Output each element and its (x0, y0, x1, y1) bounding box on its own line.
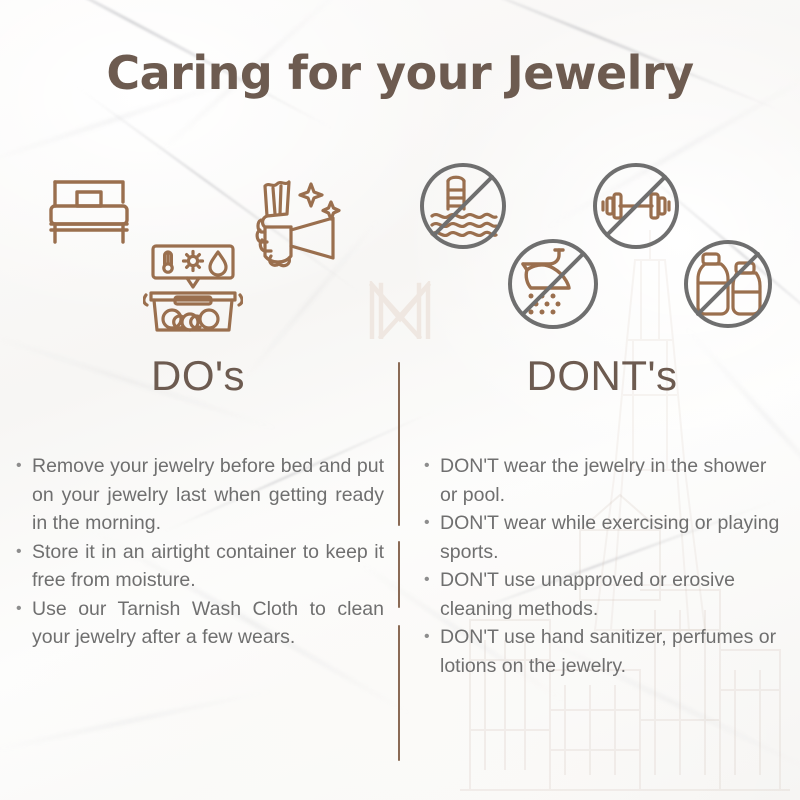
bullet-icon: • (16, 595, 32, 624)
bullet-icon: • (16, 538, 32, 567)
list-item-text: DON'T wear the jewelry in the shower or … (440, 452, 782, 509)
donts-list: • DON'T wear the jewelry in the shower o… (424, 452, 782, 680)
no-exercise-dumbbell-icon (591, 161, 681, 251)
donts-heading: DONT's (404, 352, 800, 400)
list-item: • DON'T wear while exercising or playing… (424, 509, 782, 566)
list-item: • Remove your jewelry before bed and put… (16, 452, 384, 538)
dos-list: • Remove your jewelry before bed and put… (16, 452, 384, 652)
list-item: • DON'T wear the jewelry in the shower o… (424, 452, 782, 509)
list-item: • Use our Tarnish Wash Cloth to clean yo… (16, 595, 384, 652)
column-divider (398, 362, 400, 526)
list-item-text: DON'T use unapproved or erosive cleaning… (440, 566, 782, 623)
list-item-text: Store it in an airtight container to kee… (32, 538, 384, 595)
bullet-icon: • (424, 566, 440, 595)
bullet-icon: • (424, 509, 440, 538)
bed-icon (46, 176, 132, 248)
list-item: • DON'T use unapproved or erosive cleani… (424, 566, 782, 623)
column-divider (398, 625, 400, 761)
bullet-icon: • (16, 452, 32, 481)
list-item-text: DON'T use hand sanitizer, perfumes or lo… (440, 623, 782, 680)
bullet-icon: • (424, 452, 440, 481)
list-item: • Store it in an airtight container to k… (16, 538, 384, 595)
no-shower-icon (505, 236, 601, 332)
dos-heading: DO's (0, 352, 396, 400)
icon-row (0, 0, 800, 800)
list-item: • DON'T use hand sanitizer, perfumes or … (424, 623, 782, 680)
brand-monogram-icon (367, 281, 433, 339)
no-cosmetic-bottles-icon (681, 237, 775, 331)
column-divider (398, 541, 400, 608)
list-item-text: Remove your jewelry before bed and put o… (32, 452, 384, 538)
storage-container-icon (143, 243, 243, 335)
bullet-icon: • (424, 623, 440, 652)
jewelry-care-poster: Caring for your Jewelry (0, 0, 800, 800)
list-item-text: DON'T wear while exercising or playing s… (440, 509, 782, 566)
polishing-cloth-icon (247, 172, 351, 276)
no-swimming-pool-icon (418, 161, 508, 251)
list-item-text: Use our Tarnish Wash Cloth to clean your… (32, 595, 384, 652)
